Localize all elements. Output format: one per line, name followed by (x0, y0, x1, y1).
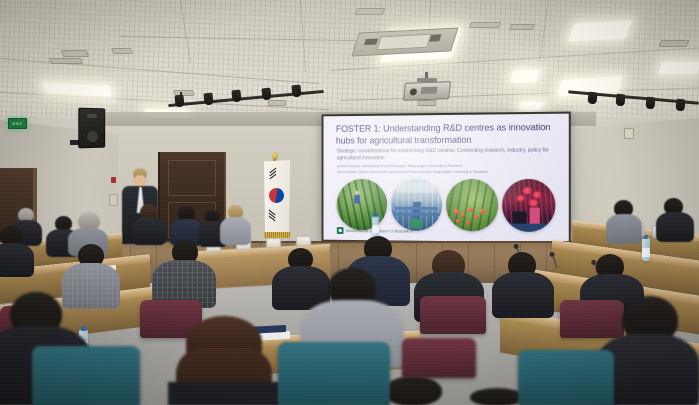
chair-teal[interactable] (32, 346, 140, 405)
ceiling-panel-light (519, 102, 543, 110)
ceiling-recessed-fixture (509, 24, 535, 30)
track-spotlight (645, 97, 655, 110)
ceiling-recessed-fixture (659, 40, 690, 47)
ceiling-projector (403, 81, 451, 101)
flag-taeguk (266, 185, 287, 206)
ceiling-recessed-fixture (469, 22, 501, 28)
ceiling-recessed-fixture (355, 8, 386, 15)
attendee-body (606, 214, 642, 244)
slide-logo-text: WAGENINGEN UNIVERSITY & RESEARCH (345, 229, 413, 234)
attendee-body (492, 272, 554, 318)
chair-maroon[interactable] (560, 300, 624, 338)
track-spotlight (203, 93, 213, 106)
ceiling-recessed-fixture (418, 100, 436, 106)
slide-image-greenhouse (391, 179, 442, 231)
track-spotlight (174, 95, 184, 108)
ceiling-recessed-fixture (49, 58, 83, 64)
water-bottle[interactable] (642, 238, 650, 261)
presentation-slide: FOSTER 1: Understanding R&D centres as i… (324, 114, 569, 243)
ceiling-panel-light (658, 62, 699, 74)
chair-teal[interactable] (278, 342, 390, 405)
wageningen-logo-icon (337, 227, 344, 234)
seminar-room-photo: EXIT FOSTER 1: Understanding R&D centres… (0, 0, 699, 405)
attendee-body (132, 217, 166, 245)
track-spotlight (261, 88, 271, 101)
slide-title: FOSTER 1: Understanding R&D centres as i… (336, 122, 559, 147)
name-placard (266, 238, 281, 248)
south-korean-flag (264, 160, 290, 238)
chair-maroon[interactable] (402, 338, 476, 378)
ceiling-recessed-fixture (61, 50, 89, 57)
slide-author-line-2: Jan te Kapen, Senior Researcher Land Use… (337, 170, 555, 175)
fire-alarm-device (111, 177, 116, 183)
track-spotlight (587, 92, 597, 105)
ceiling-recessed-fixture (268, 100, 286, 106)
name-placard (296, 236, 311, 246)
track-spotlight (231, 90, 241, 103)
wall-outlet-plate (624, 128, 634, 139)
chair-maroon[interactable] (420, 296, 486, 334)
exit-sign-label: EXIT (9, 120, 26, 127)
slide-author-line-1: Jouke Campen, International Project Mana… (337, 164, 550, 169)
exit-sign: EXIT (8, 118, 27, 129)
track-spotlight (615, 94, 625, 107)
slide-subtitle: Strategic considerations for establishin… (337, 147, 550, 162)
slide-image-led-grow-lights (502, 179, 555, 232)
chair-teal[interactable] (518, 350, 614, 405)
projection-screen: FOSTER 1: Understanding R&D centres as i… (322, 112, 571, 245)
attendee-body (656, 212, 694, 242)
slide-image-field-crops (337, 179, 387, 230)
slide-image-tomato-vines (446, 179, 498, 232)
attendee-body (62, 263, 120, 309)
attendee-body (220, 217, 251, 245)
ceiling-panel-light (510, 70, 540, 82)
ceiling-recessed-fixture (111, 48, 133, 54)
wall-speaker (78, 108, 105, 149)
attendee-body (168, 382, 280, 405)
track-spotlight (675, 99, 685, 112)
attendee-head (470, 388, 524, 405)
ceiling-panel-light (568, 21, 632, 42)
wall-switch-plate (109, 194, 118, 206)
attendee-body (0, 243, 34, 277)
attendee-head (384, 376, 442, 405)
water-bottle[interactable] (372, 216, 379, 238)
track-spotlight (291, 85, 301, 98)
